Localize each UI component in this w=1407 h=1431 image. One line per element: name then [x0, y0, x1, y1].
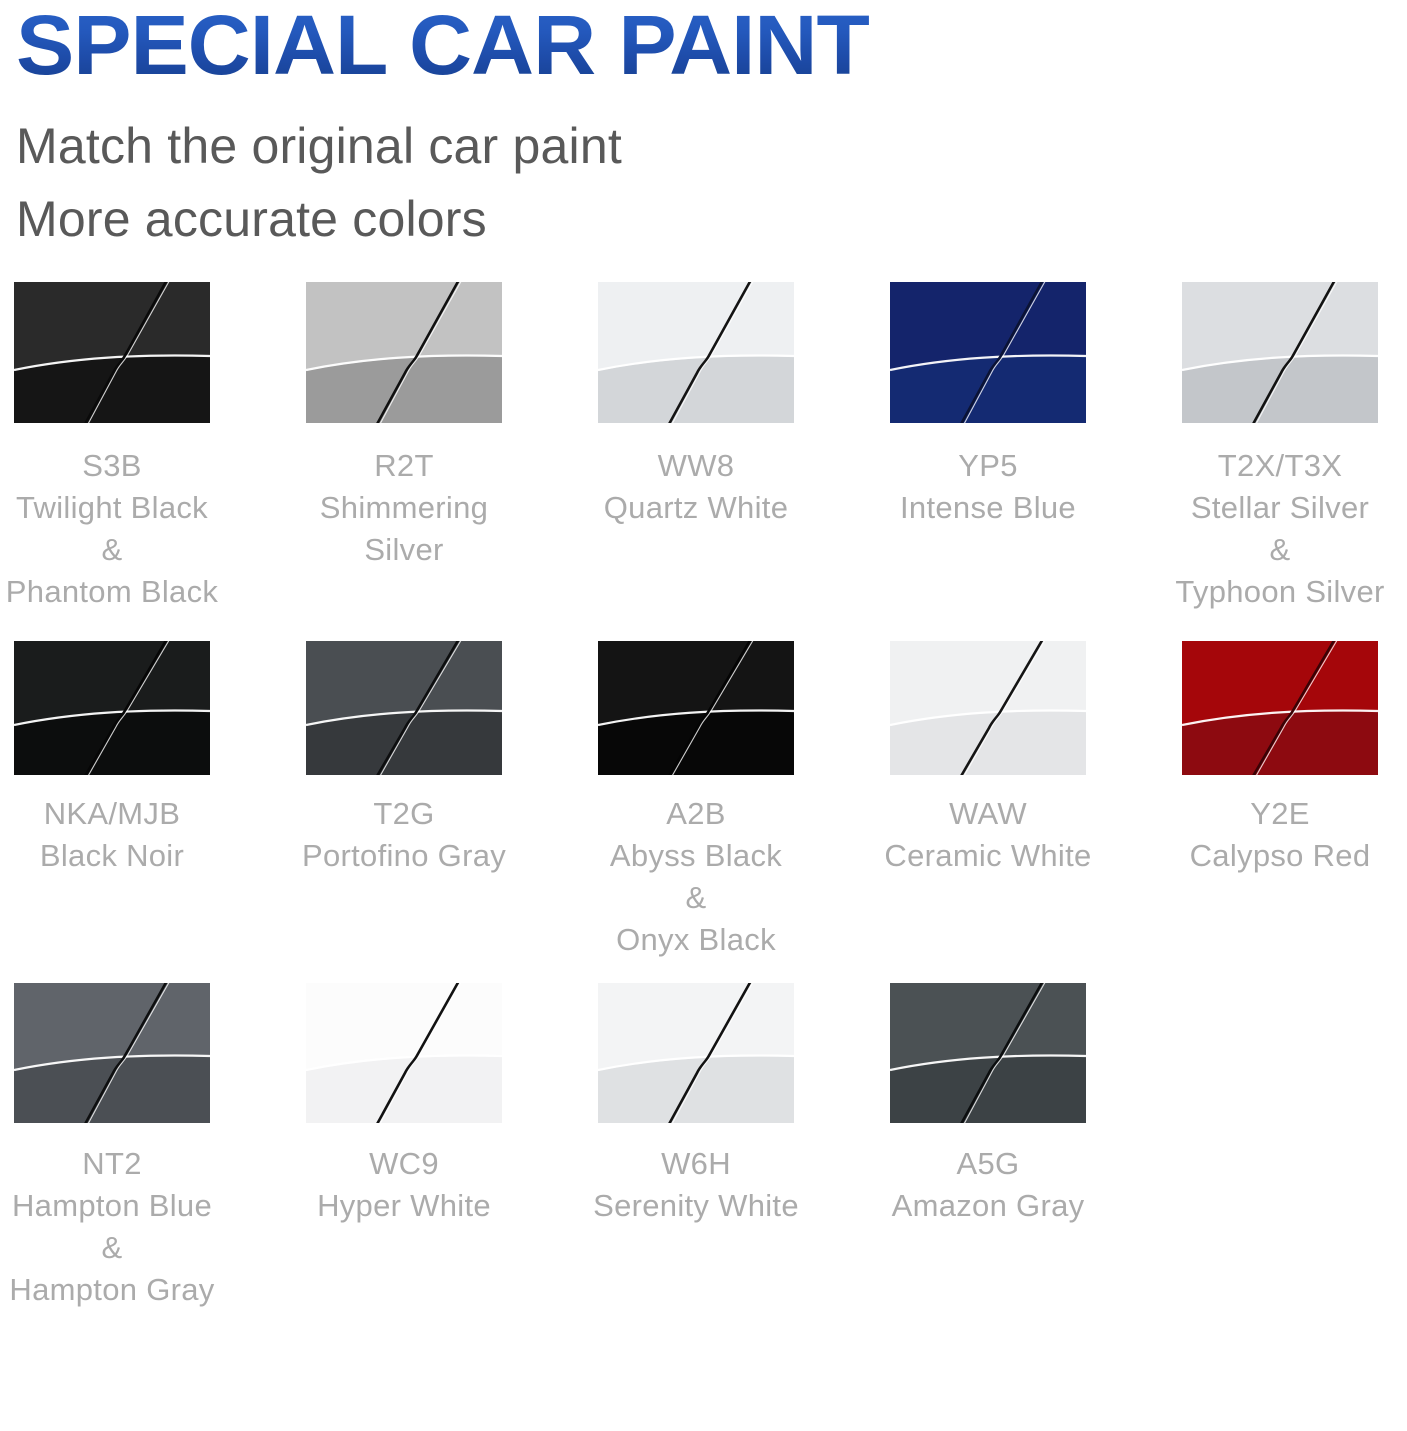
paint-swatch-abyss-black-onyx-black[interactable]: A2BAbyss Black&Onyx Black	[598, 641, 794, 961]
paint-swatch-calypso-red[interactable]: Y2ECalypso Red	[1182, 641, 1378, 877]
car-panel-illustration	[890, 641, 1086, 775]
car-panel-illustration	[306, 641, 502, 775]
paint-swatch-image-amazon-gray[interactable]	[890, 983, 1086, 1123]
paint-name-line: Stellar Silver	[1175, 487, 1384, 529]
paint-swatch-twilight-black-phantom-black[interactable]: S3BTwilight Black&Phantom Black	[14, 282, 210, 613]
paint-code: WW8	[604, 445, 788, 487]
paint-swatch-hyper-white[interactable]: WC9Hyper White	[306, 983, 502, 1227]
paint-name-line: Hampton Gray	[9, 1269, 214, 1311]
paint-swatch-image-black-noir[interactable]	[14, 641, 210, 775]
subtitle-line-1: Match the original car paint	[16, 118, 622, 174]
paint-swatch-shimmering-silver[interactable]: R2TShimmeringSilver	[306, 282, 502, 571]
paint-swatch-image-stellar-silver-typhoon-silver[interactable]	[1182, 282, 1378, 423]
paint-swatch-image-hyper-white[interactable]	[306, 983, 502, 1123]
paint-swatch-hampton-blue-hampton-gray[interactable]: NT2Hampton Blue&Hampton Gray	[14, 983, 210, 1311]
paint-code: T2X/T3X	[1175, 445, 1384, 487]
paint-swatch-label: Y2ECalypso Red	[1190, 793, 1371, 877]
paint-swatch-stellar-silver-typhoon-silver[interactable]: T2X/T3XStellar Silver&Typhoon Silver	[1182, 282, 1378, 613]
car-panel-illustration	[598, 983, 794, 1123]
car-panel-illustration	[306, 983, 502, 1123]
car-panel-illustration	[14, 641, 210, 775]
paint-name-line: Abyss Black	[610, 835, 782, 877]
paint-swatch-portofino-gray[interactable]: T2GPortofino Gray	[306, 641, 502, 877]
paint-name-line: Calypso Red	[1190, 835, 1371, 877]
paint-name-line: Phantom Black	[6, 571, 218, 613]
page-header: SPECIAL CAR PAINT Match the original car…	[0, 0, 1407, 256]
paint-color-grid: S3BTwilight Black&Phantom BlackR2TShimme…	[0, 282, 1407, 1311]
paint-code: WAW	[884, 793, 1091, 835]
paint-swatch-label: T2GPortofino Gray	[302, 793, 506, 877]
paint-code: T2G	[302, 793, 506, 835]
paint-swatch-image-quartz-white[interactable]	[598, 282, 794, 423]
paint-name-line: Twilight Black	[6, 487, 218, 529]
paint-swatch-label: WAWCeramic White	[884, 793, 1091, 877]
car-panel-illustration	[890, 983, 1086, 1123]
paint-name-line: &	[9, 1227, 214, 1269]
paint-swatch-label: NT2Hampton Blue&Hampton Gray	[9, 1143, 214, 1311]
paint-swatch-label: WC9Hyper White	[317, 1143, 491, 1227]
paint-code: W6H	[593, 1143, 799, 1185]
car-panel-illustration	[1182, 641, 1378, 775]
paint-code: YP5	[900, 445, 1076, 487]
paint-swatch-image-intense-blue[interactable]	[890, 282, 1086, 423]
car-panel-illustration	[598, 282, 794, 423]
paint-swatch-image-shimmering-silver[interactable]	[306, 282, 502, 423]
paint-swatch-image-twilight-black-phantom-black[interactable]	[14, 282, 210, 423]
paint-swatch-image-abyss-black-onyx-black[interactable]	[598, 641, 794, 775]
car-panel-illustration	[1182, 282, 1378, 423]
paint-swatch-label: A5GAmazon Gray	[892, 1143, 1085, 1227]
paint-name-line: &	[6, 529, 218, 571]
paint-name-line: Black Noir	[40, 835, 184, 877]
paint-name-line: Shimmering	[320, 487, 488, 529]
paint-name-line: &	[610, 877, 782, 919]
paint-name-line: Amazon Gray	[892, 1185, 1085, 1227]
paint-name-line: Portofino Gray	[302, 835, 506, 877]
car-panel-illustration	[14, 282, 210, 423]
paint-code: R2T	[320, 445, 488, 487]
paint-name-line: Onyx Black	[610, 919, 782, 961]
subtitle-line-2: More accurate colors	[16, 191, 487, 247]
page-subtitle: Match the original car paint More accura…	[16, 88, 1407, 256]
paint-swatch-intense-blue[interactable]: YP5Intense Blue	[890, 282, 1086, 529]
paint-swatch-label: S3BTwilight Black&Phantom Black	[6, 445, 218, 613]
paint-row: NT2Hampton Blue&Hampton GrayWC9Hyper Whi…	[14, 983, 1407, 1311]
paint-swatch-image-portofino-gray[interactable]	[306, 641, 502, 775]
paint-name-line: Quartz White	[604, 487, 788, 529]
paint-code: S3B	[6, 445, 218, 487]
paint-swatch-image-serenity-white[interactable]	[598, 983, 794, 1123]
paint-name-line: Ceramic White	[884, 835, 1091, 877]
paint-code: A2B	[610, 793, 782, 835]
paint-row: NKA/MJBBlack NoirT2GPortofino GrayA2BAby…	[14, 641, 1407, 961]
paint-code: Y2E	[1190, 793, 1371, 835]
paint-swatch-serenity-white[interactable]: W6HSerenity White	[598, 983, 794, 1227]
paint-swatch-label: YP5Intense Blue	[900, 445, 1076, 529]
paint-name-line: Hampton Blue	[9, 1185, 214, 1227]
paint-name-line: Silver	[320, 529, 488, 571]
paint-name-line: &	[1175, 529, 1384, 571]
paint-swatch-ceramic-white[interactable]: WAWCeramic White	[890, 641, 1086, 877]
paint-swatch-black-noir[interactable]: NKA/MJBBlack Noir	[14, 641, 210, 877]
car-panel-illustration	[306, 282, 502, 423]
paint-swatch-label: T2X/T3XStellar Silver&Typhoon Silver	[1175, 445, 1384, 613]
paint-swatch-label: R2TShimmeringSilver	[320, 445, 488, 571]
paint-swatch-image-hampton-blue-hampton-gray[interactable]	[14, 983, 210, 1123]
car-panel-illustration	[890, 282, 1086, 423]
paint-swatch-amazon-gray[interactable]: A5GAmazon Gray	[890, 983, 1086, 1227]
paint-code: NT2	[9, 1143, 214, 1185]
paint-swatch-image-calypso-red[interactable]	[1182, 641, 1378, 775]
car-panel-illustration	[598, 641, 794, 775]
paint-swatch-image-ceramic-white[interactable]	[890, 641, 1086, 775]
special-car-paint-page: SPECIAL CAR PAINT Match the original car…	[0, 0, 1407, 1431]
paint-swatch-label: NKA/MJBBlack Noir	[40, 793, 184, 877]
paint-code: A5G	[892, 1143, 1085, 1185]
paint-swatch-label: WW8Quartz White	[604, 445, 788, 529]
paint-code: WC9	[317, 1143, 491, 1185]
paint-swatch-label: A2BAbyss Black&Onyx Black	[610, 793, 782, 961]
page-title: SPECIAL CAR PAINT	[16, 0, 1407, 88]
car-panel-illustration	[14, 983, 210, 1123]
paint-swatch-quartz-white[interactable]: WW8Quartz White	[598, 282, 794, 529]
paint-row: S3BTwilight Black&Phantom BlackR2TShimme…	[14, 282, 1407, 613]
paint-code: NKA/MJB	[40, 793, 184, 835]
paint-swatch-label: W6HSerenity White	[593, 1143, 799, 1227]
paint-name-line: Intense Blue	[900, 487, 1076, 529]
paint-name-line: Typhoon Silver	[1175, 571, 1384, 613]
paint-name-line: Serenity White	[593, 1185, 799, 1227]
paint-name-line: Hyper White	[317, 1185, 491, 1227]
